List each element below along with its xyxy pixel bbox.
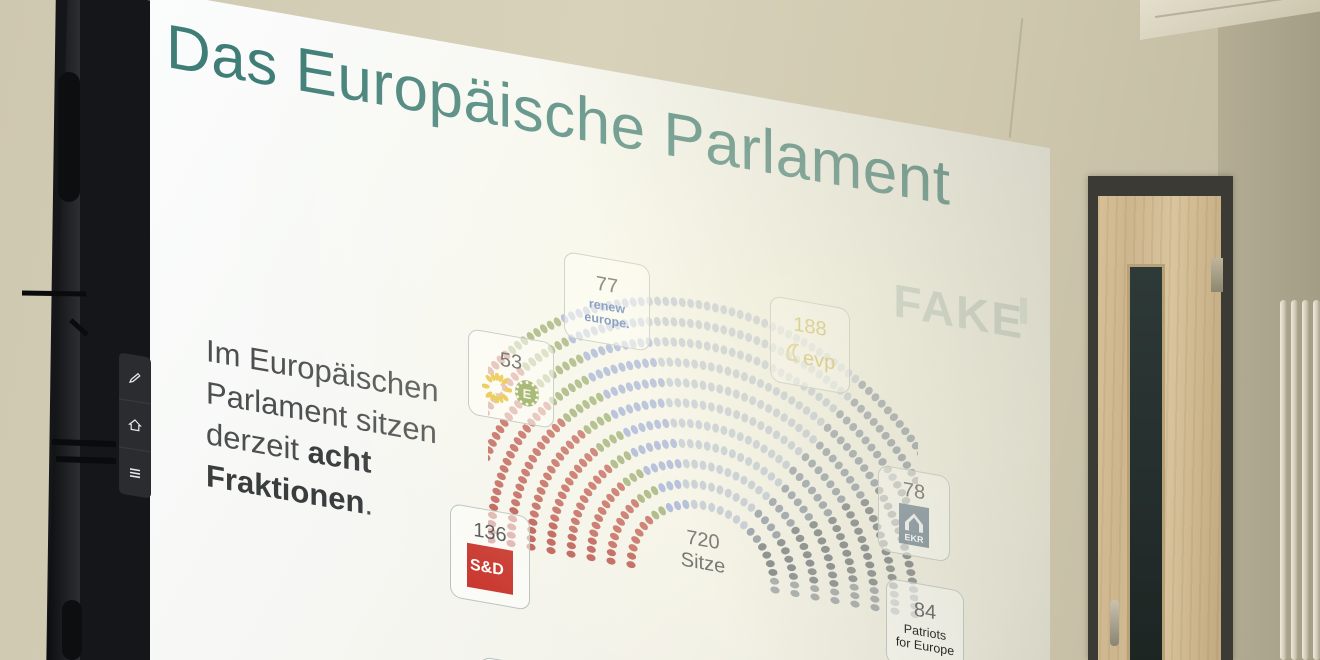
hemicycle-seat [794,400,804,412]
hemicycle-seat [662,317,670,327]
hemicycle-seat [830,596,839,604]
hemicycle-seat [609,386,619,397]
hemicycle-seat [850,600,859,608]
hemicycle-seat [687,318,694,328]
hemicycle-seat [802,550,813,559]
hemicycle-seat [589,528,599,538]
hemicycle-seat [798,504,809,515]
hemicycle-seat [670,297,678,307]
hemicycle-seat [785,518,796,529]
ekr-logo-text: EKR [904,532,923,545]
hemicycle-seat [794,534,805,544]
hemicycle-seat [850,482,861,492]
green-efa-circle-icon: E [514,377,540,410]
hemicycle-seat [756,420,766,432]
hemicycle-seat [809,577,819,584]
hemicycle-seat [760,318,769,329]
hemicycle-seat [915,448,918,458]
hemicycle-seat [510,498,520,508]
party-label-renew: renew europe. [584,295,629,331]
hemicycle-seat [716,484,724,495]
hemicycle-seat [731,470,740,481]
hemicycle-seat [720,445,728,456]
hemicycle-seat [586,553,595,561]
hemicycle-seat [745,352,753,363]
hemicycle-seat [829,580,839,587]
hemicycle-seat [794,422,804,434]
hemicycle-seat [728,327,736,338]
hemicycle-seat [891,445,902,456]
hemicycle-seat [700,400,707,410]
hemicycle-seat [514,482,525,492]
pen-icon [128,370,142,386]
party-seat-count: 84 [914,599,936,623]
hemicycle-seat [786,440,797,452]
hemicycle-seat [771,429,781,441]
hemicycle-seat [840,502,851,512]
hemicycle-seat [814,391,824,403]
hemicycle-seat [657,461,667,472]
hemicycle-seat [712,423,720,434]
hemicycle-seat [678,338,686,348]
hemicycle-seat [810,585,820,593]
hemicycle-seat [695,440,702,450]
hemicycle-seat [657,357,665,366]
hemicycle-seat [567,533,577,542]
hemicycle-seat [724,366,732,377]
hemicycle-seat [855,490,866,500]
hemicycle-seat [787,395,797,407]
hemicycle-seat [657,482,667,493]
pen-button[interactable] [119,352,151,405]
hemicycle-seat [533,493,544,503]
hemicycle-seat [780,546,791,555]
hemicycle-seat [678,318,686,328]
hemicycle-seat [728,306,736,317]
hemicycle-seat [566,541,576,550]
hemicycle-seat [686,439,694,449]
hemicycle-seat [786,564,797,572]
hemicycle-seat [790,589,799,597]
lede-text-part2: . [364,485,373,522]
hemicycle-seat [835,532,846,541]
hemicycle-seat [704,341,711,351]
hemicycle-seat [830,588,840,596]
hemicycle-seat [798,542,809,551]
party-box-patriots[interactable]: 84 Patriots for Europe [886,578,964,660]
hemicycle-seat [835,494,846,504]
hemicycle-seat [704,321,711,331]
hemicycle-seat [494,479,505,489]
hemicycle-seat [566,550,575,558]
hemicycle-seat [607,540,617,550]
ekr-logo: EKR [899,503,929,548]
menu-icon [128,466,142,480]
hemicycle-seat [682,398,690,408]
hemicycle-seat [856,535,867,544]
hemicycle-seat [691,479,699,489]
hemicycle-seat [674,358,682,368]
party-box-renew[interactable]: 77 renew europe. [564,251,650,352]
hemicycle-seat [773,477,784,488]
hemicycle-seat [708,362,715,373]
hemicycle-seat [653,440,663,450]
hemicycle-seat [803,512,814,522]
hemicycle-seat [787,417,797,429]
hemicycle-seat [831,524,842,534]
svg-text:E: E [523,386,532,402]
hemicycle-seat [708,462,715,473]
hemicycle-seat [850,592,860,600]
hemicycle-seat [779,412,789,424]
hemicycle-seat [670,317,678,327]
hemicycle-seat [625,382,635,393]
hemicycle-seat [771,530,782,540]
hemicycle-seat [870,603,879,611]
hemicycle-seat [682,479,690,488]
hemicycle-seat [695,339,702,349]
hemicycle-seat [822,508,833,518]
hemicycle-seat [531,501,542,511]
hemicycle-seat [867,570,877,577]
hemicycle-seat [775,538,786,548]
hemicycle-seat [864,470,875,481]
hemicycle-seat [812,492,823,503]
hemicycle-seat [649,358,658,368]
hemicycle-seat [570,516,581,526]
party-box-sd[interactable]: 136 S&D [450,503,530,611]
hemicycle-seat [691,359,698,369]
hemicycle-seat [627,551,637,560]
hemicycle-seat [708,402,715,413]
hemicycle-seat [825,562,836,570]
hemicycle-seat [748,416,757,427]
hemicycle-seat [738,519,749,530]
hemicycle-seat [496,471,507,481]
hemicycle-seat [853,527,864,536]
party-label-patriots: Patriots for Europe [896,620,954,658]
hemicycle-seat [720,324,728,335]
hemicycle-svg [488,219,918,660]
hemicycle-seat [736,309,744,320]
hemicycle-seat [885,565,895,572]
hemicycle-seat [774,453,784,465]
hemicycle-seat [808,520,819,530]
hemicycle-seat [740,371,748,382]
hemicycle-seat [724,467,733,478]
hemicycle-seat [637,422,647,433]
hemicycle-seat [720,425,728,436]
party-box-greens[interactable]: 53 [468,328,554,429]
sd-logo: S&D [467,543,513,595]
hemicycle-seat [649,378,658,388]
hemicycle-seat [662,297,670,307]
hemicycle-seat [810,593,819,601]
hemicycle-seat [839,467,850,478]
hemicycle-seat [905,433,916,444]
hemicycle-seat [747,479,757,491]
hemicycle-seat [626,560,635,568]
hemicycle-seat [720,344,728,355]
hemicycle-seat [512,490,523,500]
fakt-logo-e-mark: E [991,290,1024,350]
hemicycle-seat [883,556,894,564]
hemicycle-seat [551,505,562,515]
hemicycle-seat [640,400,650,410]
hemicycle-seat [666,378,674,387]
hemicycle-seat [732,409,740,420]
hemicycle-seat [760,338,769,349]
hemicycle-seat [589,348,599,359]
hemicycle-seat [772,407,782,419]
hemicycle-seat [674,378,682,388]
hemicycle-seat [764,403,774,415]
hemicycle-seat [739,496,749,508]
hemicycle-seat [817,500,828,510]
hemicycle-seat [805,559,816,567]
hemicycle-seat [617,362,627,373]
hemicycle-seat [720,304,727,315]
hemicycle-seat [673,479,682,489]
hemicycle-seat [549,513,559,523]
hemicycle-seat [765,559,776,568]
party-seat-count: 77 [596,273,618,297]
page-title: Das Europäische Parlament [166,11,1026,233]
hemicycle-seat [661,439,670,449]
hemicycle-seat [736,349,744,360]
hemicycle-seat [790,525,801,535]
hemicycle-seat [708,502,716,513]
hemicycle-seat [700,500,707,510]
screen-wrapper: Das Europäische Parlament FAKE Im Europä… [0,0,1060,660]
hemicycle-seat [752,439,762,451]
hemicycle-seat [731,514,741,526]
hemicycle-seat [792,497,803,508]
sd-logo-text: S&D [470,556,504,580]
hemicycle-seat [728,347,736,358]
hemicycle-seat [678,439,686,448]
hemicycle-seat [661,419,670,429]
door-glass-panel [1127,264,1165,660]
hemicycle-seat [587,536,597,546]
hemicycle-seat [770,586,779,594]
hemicycle-seat [844,558,855,566]
hemicycle-seat [653,317,661,326]
hemicycle-seat [649,399,658,409]
hemicycle-seat [674,459,683,469]
hemicycle-seat [759,443,769,455]
hemicycle-seat [751,460,761,472]
hemicycle-seat [678,418,686,428]
whiteboard-side-toolbar[interactable] [119,352,151,498]
hemicycle-seat [674,398,682,408]
hemicycle-seat [546,546,555,554]
hemicycle-seat [768,569,779,577]
hemicycle-seat [490,494,500,504]
hemicycle-seat [807,568,817,575]
sunflower-icon [482,370,512,405]
hemicycle-seat [838,541,849,550]
hemicycle-seat [670,337,678,347]
hemicycle-seat [700,380,707,390]
hemicycle-seat [827,516,838,526]
hemicycle-seat [716,404,724,415]
hemicycle-seat [761,359,770,370]
hemicycle-seat [739,474,749,486]
hemicycle-seat [645,420,655,430]
hemicycle-seat [687,419,695,429]
hemicycle-seat [607,548,617,557]
hemicycle-seat [830,486,841,497]
hemicycle-seat [669,439,678,449]
party-seat-count: 136 [473,520,506,546]
hemicycle-seat [568,524,578,534]
hemicycle-seat [649,462,659,473]
hemicycle-seat [617,406,627,417]
hemicycle-seat [821,397,832,409]
hemicycle-seat [679,298,686,308]
hemicycle-seat [820,545,831,554]
hemicycle-seat [673,500,683,510]
party-box-ecr[interactable]: 78 EKR [878,464,950,563]
evp-logo-text: evp [803,347,835,375]
hemicycle-seat [848,575,858,582]
hemicycle-seat [683,358,691,368]
hemicycle-seat [665,398,673,407]
hemicycle-seat [724,386,732,397]
hemicycle-seat [633,359,642,369]
hemicycle-seat [756,378,765,389]
hemicycle-seat [624,403,634,414]
hemicycle-seat [736,329,744,340]
party-seat-count: 188 [793,314,826,340]
hemicycle-seat [683,378,691,388]
hemicycle-seat [695,299,702,309]
hemicycle-seat [845,510,856,520]
hemicycle-seat [869,587,879,595]
hemicycle-seat [548,521,558,531]
hemicycle-seat [736,431,745,442]
home-button[interactable] [119,400,151,453]
hemicycle-seat [744,456,754,468]
hemicycle-seat [753,356,762,367]
hemicycle-seat [793,445,804,457]
hemicycle-seat [740,412,749,423]
hemicycle-seat [617,384,627,395]
hemicycle-seat [681,500,690,510]
radiator-pipe [1302,300,1309,660]
hemicycle-seat [700,460,707,470]
hemicycle-seat [653,337,661,347]
door-handle[interactable] [1110,600,1119,646]
hemicycle-seat [744,332,752,343]
hemicycle-seat [695,420,702,430]
hemicycle-seat [547,529,557,538]
hemicycle-seat [779,390,789,402]
hemicycle-seat [712,323,719,334]
party-seat-count: 53 [500,350,522,374]
hemicycle-seat [529,509,539,519]
hemicycle-seat [865,561,876,569]
hemicycle-seat [728,428,736,439]
hemicycle-seat [906,569,916,576]
hemicycle-seat [745,526,756,537]
hemicycle-seat [691,379,698,389]
hemicycle-seat [546,538,556,547]
hemicycle-seat [653,296,661,305]
hemicycle-seat [724,509,734,521]
hemicycle-seat [759,465,769,477]
hemicycle-seat [753,508,764,519]
hemicycle-seat [748,374,757,385]
hemicycle-seat [744,434,753,445]
hemicycle-seat [661,337,669,346]
hemicycle-seat [858,463,869,474]
hemicycle-seat [724,406,732,417]
hemicycle-seat [700,480,707,490]
hemicycle-seat [816,536,827,545]
epp-logo: evp [783,336,837,379]
hemicycle-seat [801,405,811,417]
hemicycle-seat [849,518,860,527]
hemicycle-seat [609,364,619,375]
whiteboard-screen[interactable]: Das Europäische Parlament FAKE Im Europä… [150,0,1050,660]
radiator-pipe [1313,300,1320,660]
hemicycle-seat [670,418,678,427]
hemicycle-seat [724,488,733,499]
greens-efa-logo: E [482,370,540,410]
hemicycle-seat [846,567,856,574]
hemicycle-seat [844,474,855,485]
hemicycle-seat [731,492,741,504]
radiator-pipe [1280,300,1287,660]
hemicycle-chart: 720 Sitze [488,219,918,660]
hemicycle-seat [790,581,800,589]
party-box-epp[interactable]: 188 evp [770,295,850,395]
hemicycle-seat [716,464,724,475]
hemicycle-seat [812,528,823,538]
hemicycle-seat [712,302,719,313]
hemicycle-seat [700,360,707,370]
hemicycle-seat [632,402,642,413]
menu-button[interactable] [119,447,151,499]
hemicycle-seat [716,505,725,516]
hemicycle-seat [871,449,882,460]
hemicycle-seat [704,421,711,432]
hemicycle-seat [687,298,694,308]
hemicycle-seat [687,338,694,348]
hemicycle-seat [756,399,765,410]
hemicycle-seat [629,424,639,435]
hemicycle-seat [657,398,666,408]
hemicycle-seat [849,583,859,590]
hemicycle-seat [704,301,711,311]
hemicycle-seat [625,360,635,370]
hemicycle-seat [746,502,757,514]
home-icon [128,417,142,433]
radiator-pipe [1291,300,1298,660]
hemicycle-seat [704,441,711,452]
hemicycle-seat [825,479,836,490]
party-seat-count: 78 [903,480,925,504]
hemicycle-seat [665,480,675,491]
hemicycle-seat [492,487,503,497]
hemicycle-seat [641,358,650,368]
hemicycle-seat [712,443,720,454]
hemicycle-seat [695,319,702,329]
hemicycle-seat [823,554,834,562]
hemicycle-seat [744,312,752,323]
